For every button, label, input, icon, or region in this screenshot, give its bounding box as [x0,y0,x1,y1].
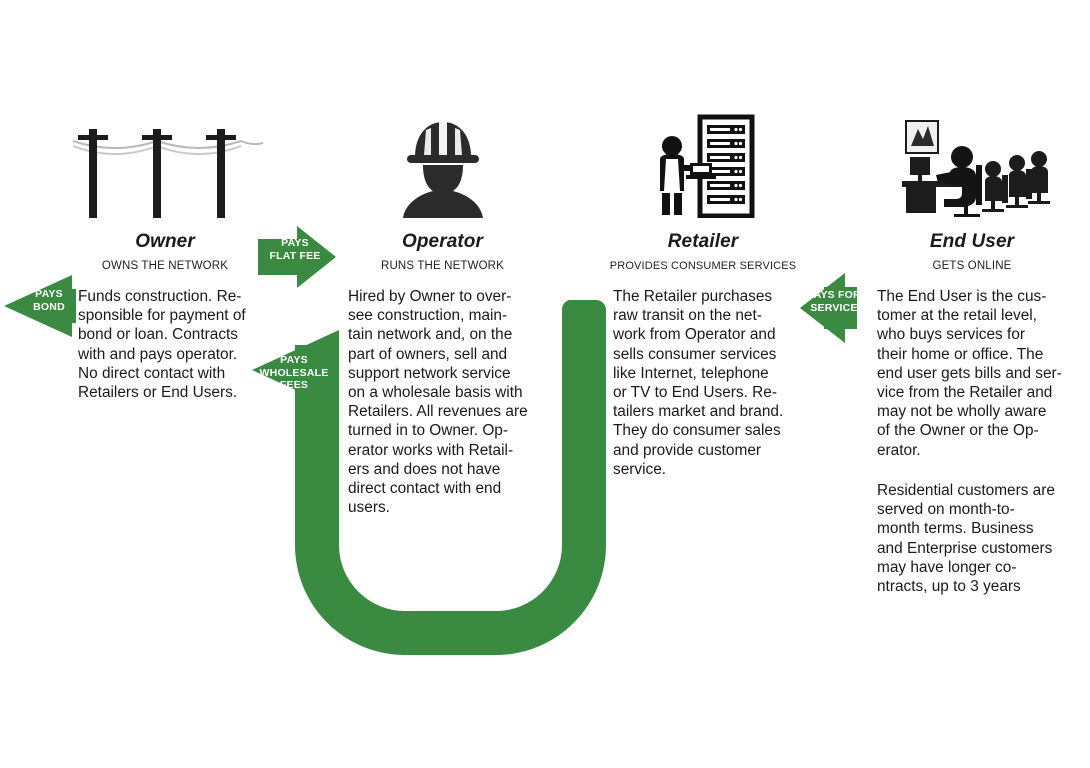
column-title-operator: Operator [340,231,545,253]
column-body-owner: Funds construction. Re- sponsible for pa… [78,287,272,402]
column-retailer: Retailer PROVIDES CONSUMER SERVICES The … [608,0,798,768]
arrow-label-pays-for-service: PAYS FOR SERVICE [803,289,865,314]
column-operator: Operator RUNS THE NETWORK Hired by Owner… [340,0,545,768]
column-title-retailer: Retailer [608,231,798,253]
column-enduser: End User GETS ONLINE The End User is the… [872,0,1072,768]
column-body-retailer: The Retailer purchases raw transit on th… [613,287,803,479]
diagram-canvas: PAYS BOND PAYS FLAT FEE PAYS WHOLESALE F… [0,0,1090,768]
column-body-operator: Hired by Owner to over- see construction… [348,287,548,517]
column-subtitle-enduser: GETS ONLINE [872,260,1072,272]
column-subtitle-operator: RUNS THE NETWORK [340,260,545,272]
column-body-enduser: The End User is the cus- tomer at the re… [877,287,1077,460]
hard-hat-worker-icon [340,113,545,218]
column-title-owner: Owner [60,231,270,253]
column-owner: Owner OWNS THE NETWORK Funds constructio… [60,0,270,768]
utility-poles-icon [60,113,270,218]
column-body-enduser-second: Residential customers are served on mont… [877,481,1077,596]
office-workstations-icon [872,113,1072,218]
column-subtitle-owner: OWNS THE NETWORK [60,260,270,272]
server-rack-technician-icon [608,113,798,218]
column-title-enduser: End User [872,231,1072,253]
column-subtitle-retailer: PROVIDES CONSUMER SERVICES [608,260,798,272]
arrow-label-pays-flat-fee: PAYS FLAT FEE [262,237,328,262]
